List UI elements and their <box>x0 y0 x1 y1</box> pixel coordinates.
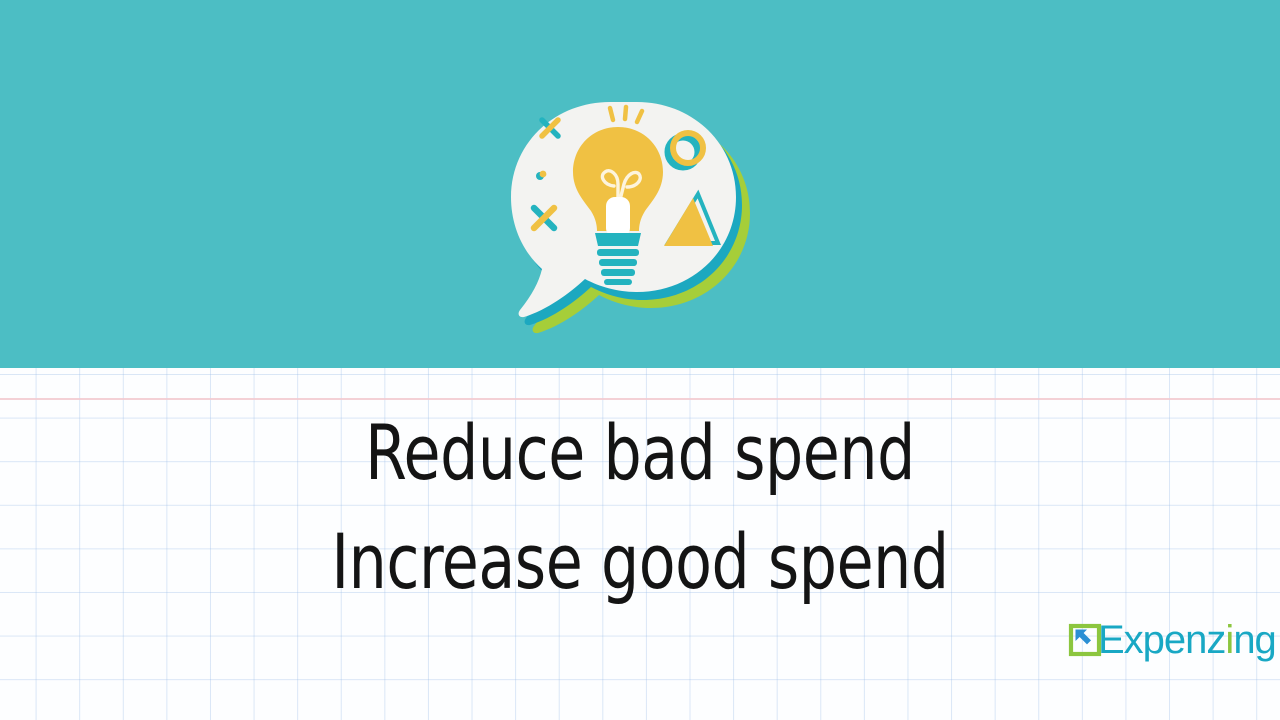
headline-line-1: Reduce bad spend <box>77 410 1203 495</box>
brand-word-part-2: ng <box>1233 618 1276 662</box>
brand-word-part-1: Expenz <box>1098 618 1225 662</box>
brand-logo: Expenzing <box>1068 622 1276 659</box>
bulb-neck <box>606 197 630 237</box>
arrow-up-left-icon <box>1076 629 1092 644</box>
expenzing-arrow-square-logo-icon <box>1068 623 1102 657</box>
brand-wordmark: Expenzing <box>1098 622 1276 659</box>
idea-speech-bubble-lightbulb-icon <box>492 80 752 340</box>
slide-canvas: Reduce bad spend Increase good spend Exp… <box>0 0 1280 720</box>
headline-block: Reduce bad spend Increase good spend <box>0 410 1280 604</box>
margin-rule-line <box>0 398 1280 400</box>
headline-line-2: Increase good spend <box>77 519 1203 604</box>
hero-banner <box>0 0 1280 368</box>
